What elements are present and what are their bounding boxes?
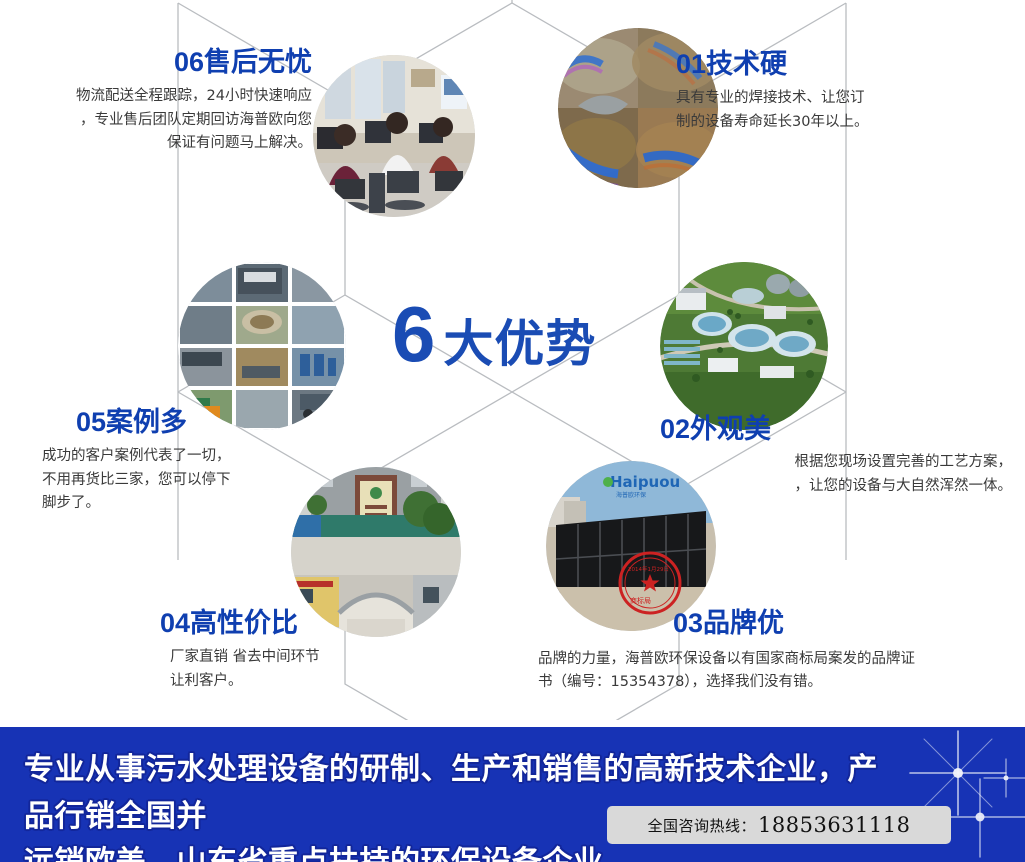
advantage-heading-01: 01技术硬 bbox=[676, 50, 1016, 78]
advantage-desc-line: 让利客户。 bbox=[170, 670, 500, 693]
svg-text:海普欧环保: 海普欧环保 bbox=[616, 491, 646, 499]
banner-text: 专业从事污水处理设备的研制、生产和销售的高新技术企业，产品行销全国并 远销欧美，… bbox=[24, 747, 904, 862]
advantage-heading-03: 03品牌优 bbox=[673, 609, 1023, 637]
advantage-desc-03: 品牌的力量，海普欧环保设备以有国家商标局案发的品牌证 书（编号：15354378… bbox=[538, 648, 1018, 695]
advantage-desc-line: 保证有问题马上解决。 bbox=[0, 132, 312, 155]
office-staff-photo bbox=[313, 55, 475, 217]
advantage-desc-line: 品牌的力量，海普欧环保设备以有国家商标局案发的品牌证 bbox=[538, 648, 1018, 671]
hotline-label: 全国咨询热线： bbox=[648, 815, 757, 836]
advantage-block-01: 01技术硬 具有专业的焊接技术、让您订 制的设备寿命延长30年以上。 bbox=[676, 50, 1016, 134]
advantage-desc-line: 书（编号：15354378），选择我们没有错。 bbox=[538, 671, 1018, 694]
advantage-desc-06: 物流配送全程跟踪，24小时快速响应 ，专业售后团队定期回访海普欧向您 保证有问题… bbox=[0, 85, 312, 155]
advantage-desc-line: 成功的客户案例代表了一切， bbox=[42, 445, 406, 468]
advantage-desc-line: ，让您的设备与大自然浑然一体。 bbox=[660, 475, 1012, 498]
case-collage-photo bbox=[178, 262, 346, 430]
center-title: 6 大优势 bbox=[392, 295, 596, 373]
svg-text:2014年1月29日: 2014年1月29日 bbox=[628, 565, 669, 573]
hotline-badge[interactable]: 全国咨询热线： 18853631118 bbox=[607, 806, 951, 844]
svg-text:商标局: 商标局 bbox=[630, 596, 651, 605]
advantages-infographic: 6 大优势 bbox=[0, 0, 1025, 862]
advantage-block-06: 06售后无忧 物流配送全程跟踪，24小时快速响应 ，专业售后团队定期回访海普欧向… bbox=[0, 48, 312, 156]
advantage-heading-06: 06售后无忧 bbox=[0, 48, 312, 76]
advantage-desc-line: 根据您现场设置完善的工艺方案， bbox=[660, 451, 1012, 474]
advantage-desc-line: 不用再货比三家，您可以停下 bbox=[42, 469, 406, 492]
advantage-desc-01: 具有专业的焊接技术、让您订 制的设备寿命延长30年以上。 bbox=[676, 87, 1016, 134]
advantage-desc-line: 脚步了。 bbox=[42, 492, 406, 515]
advantage-heading-04: 04高性价比 bbox=[160, 609, 500, 637]
advantage-heading-05: 05案例多 bbox=[76, 408, 406, 436]
advantage-desc-04: 厂家直销 省去中间环节 让利客户。 bbox=[170, 646, 500, 693]
treatment-plant-photo bbox=[660, 262, 828, 430]
advantage-desc-line: 厂家直销 省去中间环节 bbox=[170, 646, 500, 669]
advantage-desc-line: 具有专业的焊接技术、让您订 bbox=[676, 87, 1016, 110]
advantage-block-03: 03品牌优 bbox=[673, 609, 1023, 637]
center-number: 6 bbox=[392, 295, 433, 373]
center-word: 大优势 bbox=[443, 319, 596, 369]
advantage-desc-line: 物流配送全程跟踪，24小时快速响应 bbox=[0, 85, 312, 108]
advantage-heading-02: 02外观美 bbox=[660, 415, 1012, 443]
advantage-desc-02: 根据您现场设置完善的工艺方案， ，让您的设备与大自然浑然一体。 bbox=[660, 451, 1012, 498]
advantage-desc-line: ，专业售后团队定期回访海普欧向您 bbox=[0, 109, 312, 132]
advantage-desc-line: 制的设备寿命延长30年以上。 bbox=[676, 111, 1016, 134]
hotline-number: 18853631118 bbox=[758, 813, 910, 837]
advantage-block-02: 02外观美 根据您现场设置完善的工艺方案， ，让您的设备与大自然浑然一体。 bbox=[660, 415, 1012, 498]
advantage-block-05: 05案例多 成功的客户案例代表了一切， 不用再货比三家，您可以停下 脚步了。 bbox=[76, 408, 406, 516]
advantage-desc-05: 成功的客户案例代表了一切， 不用再货比三家，您可以停下 脚步了。 bbox=[42, 445, 406, 515]
advantage-block-04: 04高性价比 厂家直销 省去中间环节 让利客户。 bbox=[160, 609, 500, 693]
